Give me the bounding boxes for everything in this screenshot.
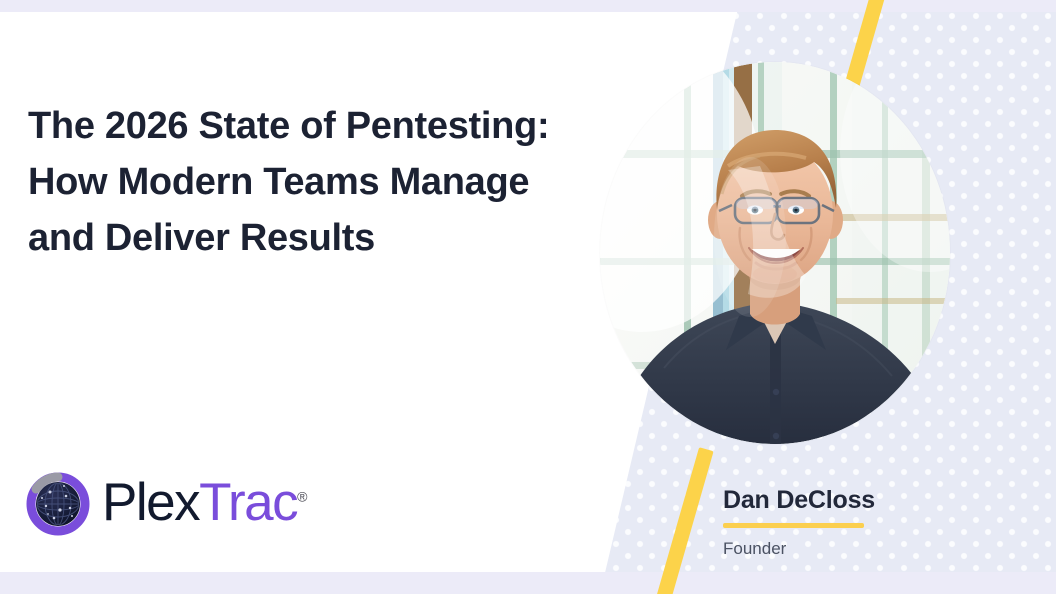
page-title: The 2026 State of Pentesting: How Modern… <box>28 98 568 267</box>
plextrac-wordmark: PlexTrac® <box>102 476 307 529</box>
plextrac-sphere-logo-icon <box>26 472 90 536</box>
logo-trac-text: Trac <box>199 473 297 532</box>
registered-trademark-icon: ® <box>297 488 307 504</box>
speaker-photo <box>600 62 950 444</box>
bottom-band <box>0 572 1056 594</box>
speaker-name: Dan DeCloss <box>723 487 1023 515</box>
speaker-role: Founder <box>723 540 1023 559</box>
top-band <box>0 0 1056 12</box>
speaker-block: Dan DeCloss Founder <box>723 487 1023 558</box>
speaker-underline <box>723 523 864 528</box>
logo-plex-text: Plex <box>102 473 199 532</box>
webinar-title-slide: The 2026 State of Pentesting: How Modern… <box>0 0 1056 594</box>
plextrac-logo[interactable]: PlexTrac® <box>26 472 307 536</box>
